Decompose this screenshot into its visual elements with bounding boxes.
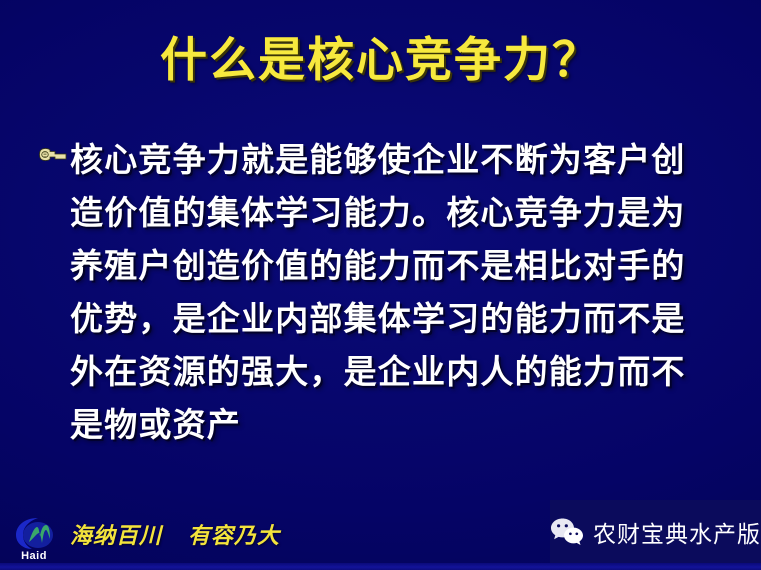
pointing-hand-icon: [38, 138, 70, 166]
bullet-spacer: [38, 191, 70, 197]
body-line-row: 优势，是企业内部集体学习的能力而不是: [38, 297, 728, 350]
footer-slogan-right: 有容乃大: [188, 523, 280, 548]
footer-brand: Haid 海纳百川有容乃大: [8, 514, 280, 562]
haid-wordmark: Haid: [8, 550, 60, 562]
bullet-spacer: [38, 244, 70, 250]
footer-slogan: 海纳百川有容乃大: [70, 518, 280, 550]
body-line-row: 养殖户创造价值的能力而不是相比对手的: [38, 244, 728, 297]
wechat-watermark: 农财宝典水产版: [550, 500, 761, 563]
body-line: 造价值的集体学习能力。核心竞争力是为: [70, 191, 728, 237]
body-line: 核心竞争力就是能够使企业不断为客户创: [70, 138, 728, 184]
wechat-icon: [550, 517, 584, 547]
wechat-account-name: 农财宝典水产版: [593, 515, 761, 549]
body-line: 优势，是企业内部集体学习的能力而不是: [70, 297, 728, 343]
presentation-slide: 什么是核心竞争力？ 核心竞争力就是能够使企业不断为客户创 造价值的集体学习能力。…: [0, 0, 761, 570]
body-line-row: 造价值的集体学习能力。核心竞争力是为: [38, 191, 728, 244]
slide-body-text: 核心竞争力就是能够使企业不断为客户创 造价值的集体学习能力。核心竞争力是为 养殖…: [38, 138, 728, 456]
haid-logo-icon: Haid: [8, 514, 60, 562]
bullet-spacer: [38, 403, 70, 409]
body-line: 养殖户创造价值的能力而不是相比对手的: [70, 244, 728, 290]
body-line-row: 是物或资产: [38, 403, 728, 456]
body-line: 是物或资产: [70, 403, 728, 449]
body-line-row: 核心竞争力就是能够使企业不断为客户创: [38, 138, 728, 191]
bullet-spacer: [38, 350, 70, 356]
bullet-spacer: [38, 297, 70, 303]
page-title: 什么是核心竞争力？: [0, 33, 761, 89]
body-line-row: 外在资源的强大，是企业内人的能力而不: [38, 350, 728, 403]
footer-slogan-left: 海纳百川: [70, 523, 162, 548]
bottom-band: [0, 563, 761, 570]
body-line: 外在资源的强大，是企业内人的能力而不: [70, 350, 728, 396]
